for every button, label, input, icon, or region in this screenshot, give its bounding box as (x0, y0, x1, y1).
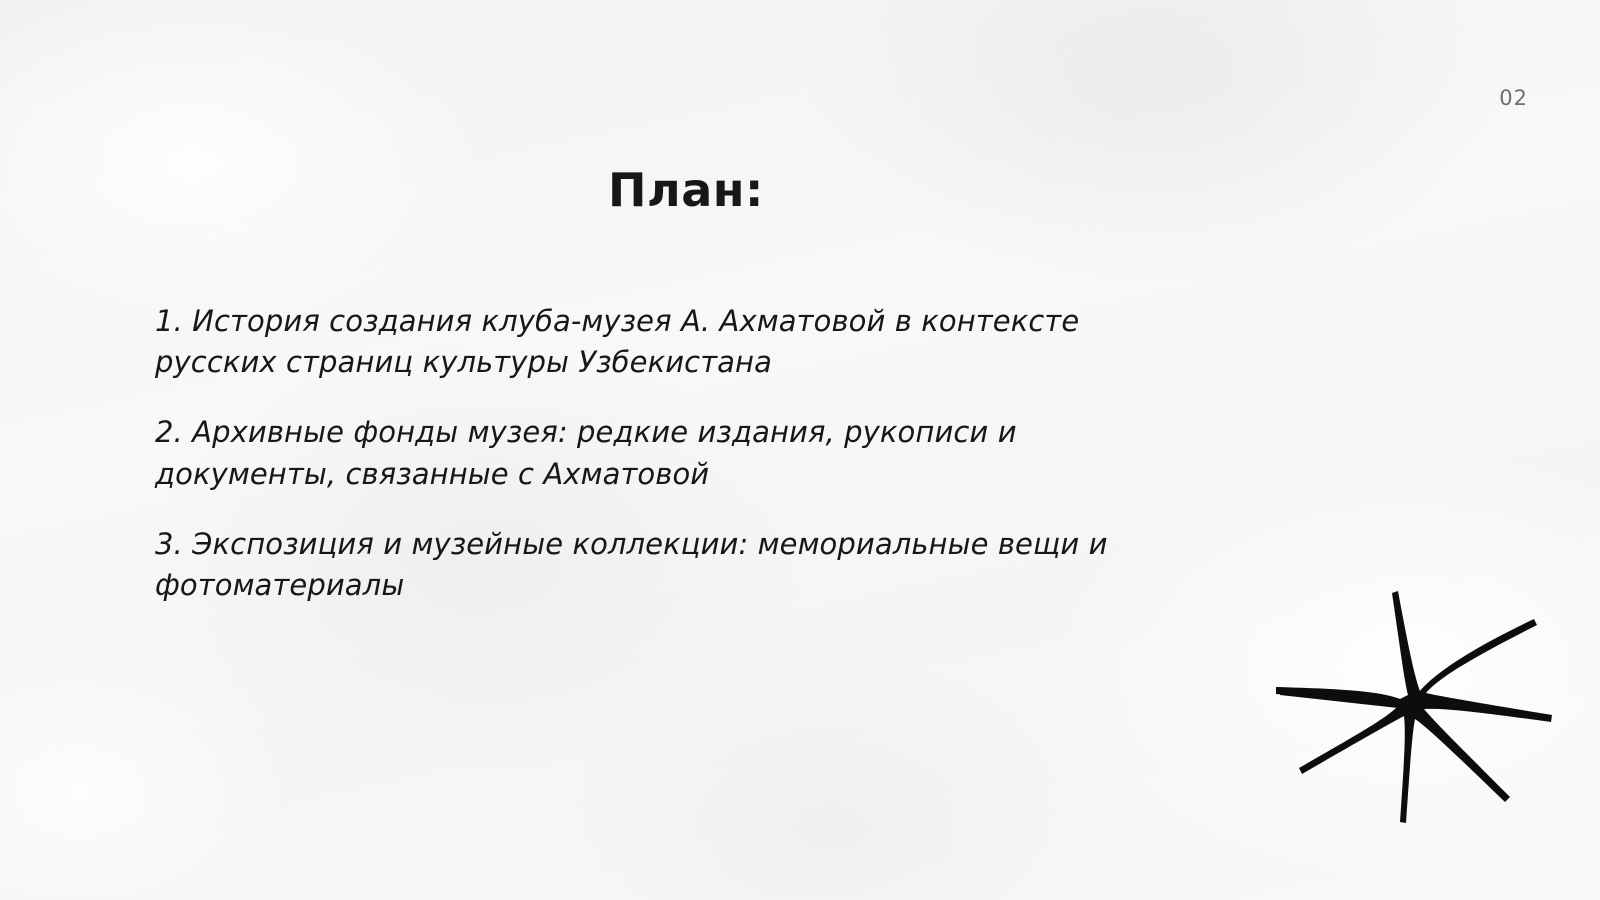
page-title: План: (0, 163, 1372, 217)
list-item: 2. Архивные фонды музея: редкие издания,… (155, 412, 1115, 494)
list-item: 3. Экспозиция и музейные коллекции: мемо… (155, 524, 1115, 606)
plan-list: 1. История создания клуба-музея А. Ахмат… (155, 272, 1115, 606)
page-number: 02 (1499, 86, 1528, 110)
presentation-slide: 02 План: 1. История создания клуба-музея… (0, 0, 1600, 900)
five-point-spiky-star-icon (1258, 575, 1558, 825)
list-item: 1. История создания клуба-музея А. Ахмат… (155, 301, 1115, 383)
